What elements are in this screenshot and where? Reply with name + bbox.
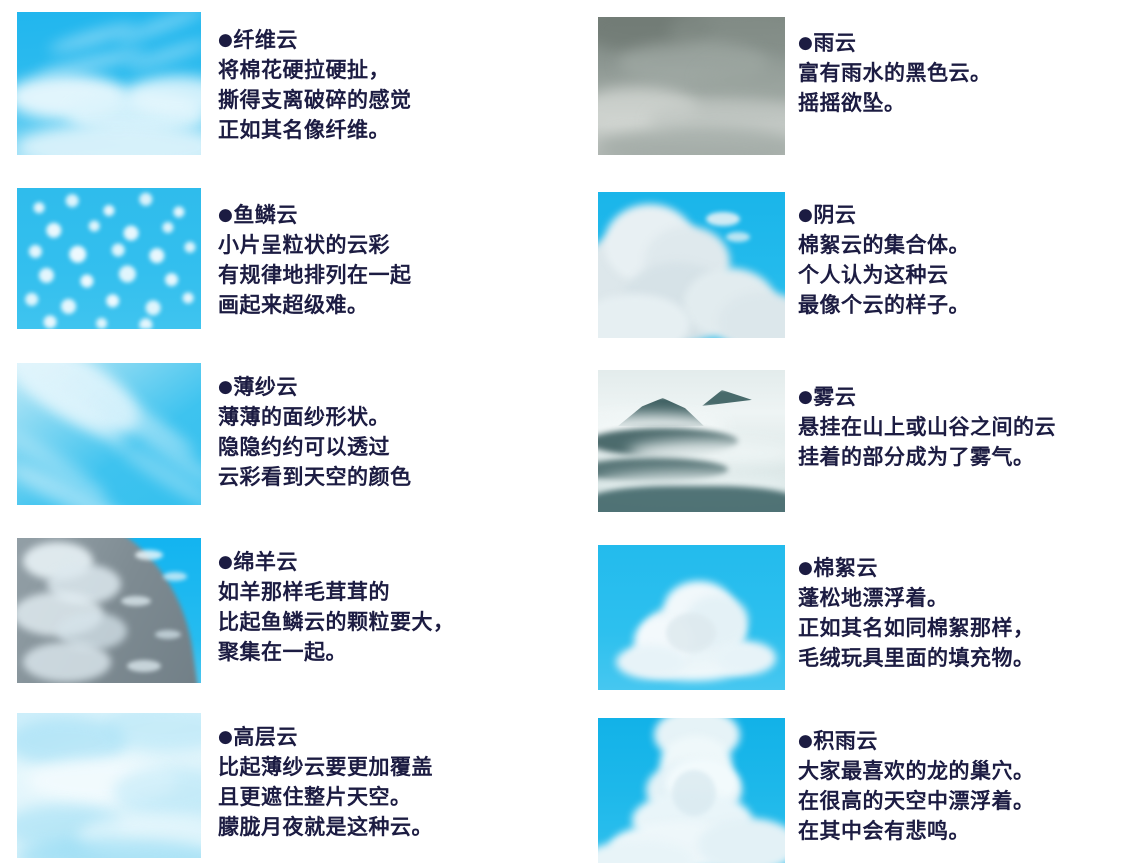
entry-desc-line: 正如其名如同棉絮那样， xyxy=(798,613,1035,643)
entry-desc-line: 画起来超级难。 xyxy=(218,290,412,320)
entry-desc-line: 正如其名像纤维。 xyxy=(218,115,412,145)
cumulus-humilis-photo xyxy=(598,545,785,690)
entry-title: ●雨云 xyxy=(798,28,992,58)
entry-desc-line: 在很高的天空中漂浮着。 xyxy=(798,786,1035,816)
copy-cotton-cloud: ●棉絮云 蓬松地漂浮着。 正如其名如同棉絮那样， 毛绒玩具里面的填充物。 xyxy=(798,553,1035,673)
entry-desc-line: 将棉花硬拉硬扯， xyxy=(218,55,412,85)
bullet-icon: ● xyxy=(798,33,813,53)
copy-rain-cloud: ●雨云 富有雨水的黑色云。 摇摇欲坠。 xyxy=(798,28,992,118)
copy-sheep-cloud: ●绵羊云 如羊那样毛茸茸的 比起鱼鳞云的颗粒要大， 聚集在一起。 xyxy=(218,547,455,667)
entry-desc-line: 毛绒玩具里面的填充物。 xyxy=(798,643,1035,673)
entry-title: ●薄纱云 xyxy=(218,372,412,402)
bullet-icon: ● xyxy=(798,205,813,225)
copy-overcast-cloud: ●阴云 棉絮云的集合体。 个人认为这种云 最像个云的样子。 xyxy=(798,200,970,320)
entry-desc-line: 大家最喜欢的龙的巢穴。 xyxy=(798,756,1035,786)
right-column: ●雨云 富有雨水的黑色云。 摇摇欲坠。 ●阴云 棉絮云的集合体。 xyxy=(561,0,1122,863)
bullet-icon: ● xyxy=(798,731,813,751)
bullet-icon: ● xyxy=(798,558,813,578)
entry-desc-line: 小片呈粒状的云彩 xyxy=(218,230,412,260)
entry-title: ●鱼鳞云 xyxy=(218,200,412,230)
cumulonimbus-photo xyxy=(598,718,785,863)
copy-cumulonimbus-cloud: ●积雨云 大家最喜欢的龙的巢穴。 在很高的天空中漂浮着。 在其中会有悲鸣。 xyxy=(798,726,1035,846)
entry-title: ●雾云 xyxy=(798,382,1056,412)
entry-desc-line: 云彩看到天空的颜色 xyxy=(218,462,412,492)
entry-title: ●棉絮云 xyxy=(798,553,1035,583)
entry-desc-line: 隐隐约约可以透过 xyxy=(218,432,412,462)
mountain-fog-photo xyxy=(598,370,785,512)
cirrocumulus-photo xyxy=(17,188,201,329)
bullet-icon: ● xyxy=(798,387,813,407)
altocumulus-photo xyxy=(17,538,201,683)
entry-desc-line: 聚集在一起。 xyxy=(218,637,455,667)
nimbostratus-photo xyxy=(598,17,785,155)
entry-desc-line: 最像个云的样子。 xyxy=(798,290,970,320)
bullet-icon: ● xyxy=(218,552,233,572)
entry-title: ●阴云 xyxy=(798,200,970,230)
entry-desc-line: 比起鱼鳞云的颗粒要大， xyxy=(218,607,455,637)
entry-desc-line: 挂着的部分成为了雾气。 xyxy=(798,442,1056,472)
entry-desc-line: 朦胧月夜就是这种云。 xyxy=(218,812,433,842)
entry-desc-line: 比起薄纱云要更加覆盖 xyxy=(218,752,433,782)
entry-title: ●高层云 xyxy=(218,722,433,752)
entry-title: ●纤维云 xyxy=(218,25,412,55)
entry-desc-line: 摇摇欲坠。 xyxy=(798,88,992,118)
copy-altostratus-cloud: ●高层云 比起薄纱云要更加覆盖 且更遮住整片天空。 朦胧月夜就是这种云。 xyxy=(218,722,433,842)
entry-desc-line: 个人认为这种云 xyxy=(798,260,970,290)
entry-desc-line: 如羊那样毛茸茸的 xyxy=(218,577,455,607)
bullet-icon: ● xyxy=(218,727,233,747)
entry-title: ●积雨云 xyxy=(798,726,1035,756)
entry-desc-line: 富有雨水的黑色云。 xyxy=(798,58,992,88)
bullet-icon: ● xyxy=(218,30,233,50)
entry-desc-line: 悬挂在山上或山谷之间的云 xyxy=(798,412,1056,442)
altostratus-photo xyxy=(17,713,201,858)
entry-desc-line: 在其中会有悲鸣。 xyxy=(798,816,1035,846)
bullet-icon: ● xyxy=(218,377,233,397)
entry-desc-line: 薄薄的面纱形状。 xyxy=(218,402,412,432)
entry-desc-line: 棉絮云的集合体。 xyxy=(798,230,970,260)
copy-fiber-cloud: ●纤维云 将棉花硬拉硬扯， 撕得支离破碎的感觉 正如其名像纤维。 xyxy=(218,25,412,145)
entry-desc-line: 撕得支离破碎的感觉 xyxy=(218,85,412,115)
cirrostratus-photo xyxy=(17,363,201,505)
copy-fish-scale-cloud: ●鱼鳞云 小片呈粒状的云彩 有规律地排列在一起 画起来超级难。 xyxy=(218,200,412,320)
cloud-types-infographic: ●纤维云 将棉花硬拉硬扯， 撕得支离破碎的感觉 正如其名像纤维。 ●鱼鳞云 小片… xyxy=(0,0,1122,863)
copy-fog-cloud: ●雾云 悬挂在山上或山谷之间的云 挂着的部分成为了雾气。 xyxy=(798,382,1056,472)
entry-desc-line: 有规律地排列在一起 xyxy=(218,260,412,290)
stratocumulus-photo xyxy=(598,192,785,338)
left-column: ●纤维云 将棉花硬拉硬扯， 撕得支离破碎的感觉 正如其名像纤维。 ●鱼鳞云 小片… xyxy=(0,0,561,863)
entry-desc-line: 且更遮住整片天空。 xyxy=(218,782,433,812)
cirrus-fibratus-photo xyxy=(17,12,201,155)
copy-veil-cloud: ●薄纱云 薄薄的面纱形状。 隐隐约约可以透过 云彩看到天空的颜色 xyxy=(218,372,412,492)
entry-title: ●绵羊云 xyxy=(218,547,455,577)
bullet-icon: ● xyxy=(218,205,233,225)
entry-desc-line: 蓬松地漂浮着。 xyxy=(798,583,1035,613)
